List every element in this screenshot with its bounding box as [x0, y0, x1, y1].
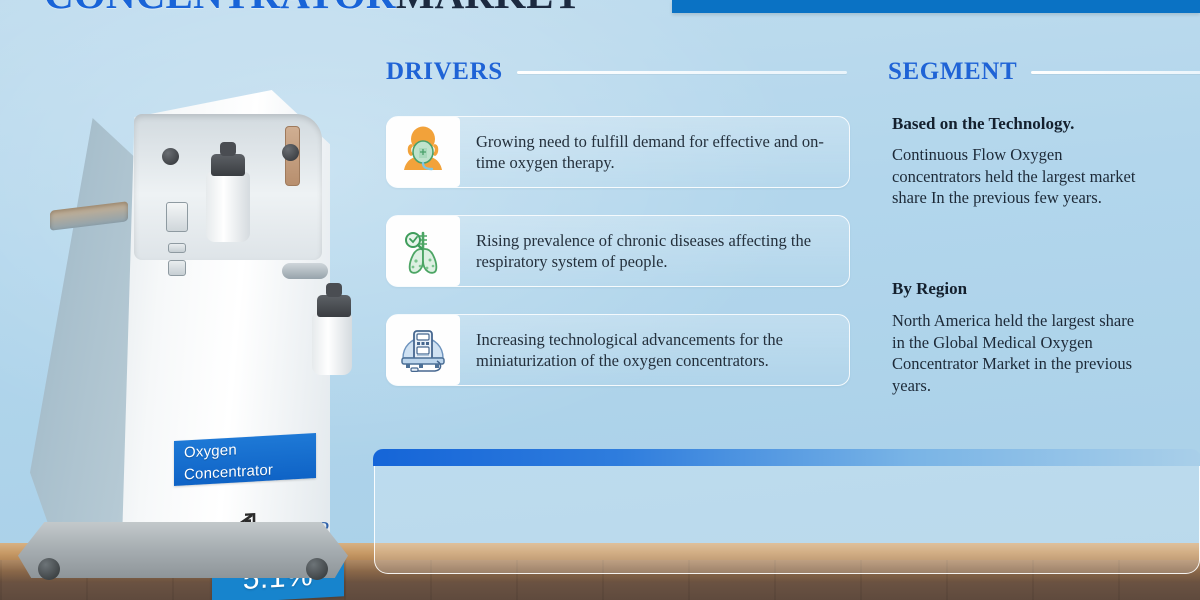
driver-card-text: Rising prevalence of chronic diseases af…	[460, 230, 849, 272]
machine-side-panel	[30, 118, 138, 540]
driver-card[interactable]: Rising prevalence of chronic diseases af…	[386, 215, 850, 287]
drivers-heading: DRIVERS	[386, 58, 847, 86]
oxygen-concentrator-illustration: Oxygen Concentrator CAGR 5.1%	[14, 88, 374, 584]
segment-heading: SEGMENT	[888, 58, 1200, 86]
machine-knob-right	[282, 144, 299, 161]
bottom-content-panel[interactable]	[374, 452, 1200, 574]
driver-card[interactable]: Increasing technological advancements fo…	[386, 314, 850, 386]
page-title-rest: MARKET	[396, 0, 582, 17]
region-title-text: By Region	[892, 279, 967, 298]
segment-technology-body: Continuous Flow Oxygen concentrators hel…	[892, 144, 1150, 209]
segment-region-title: By Region	[892, 277, 967, 302]
driver-icon-wrapper	[386, 216, 460, 286]
machine-knob-left	[162, 148, 179, 165]
segment-region-body: North America held the largest share in …	[892, 310, 1150, 396]
title-accent-bar	[672, 0, 1200, 13]
driver-card-text: Increasing technological advancements fo…	[460, 329, 849, 371]
technology-title-text: Based on the Technology.	[892, 114, 1074, 133]
machine-name-label: Oxygen Concentrator	[174, 433, 316, 486]
portable-oxygen-concentrator-icon	[397, 324, 449, 376]
page-title: CONCENTRATORMARKET	[44, 0, 581, 18]
lungs-magnifier-icon	[397, 225, 449, 277]
page-title-highlight: CONCENTRATOR	[44, 0, 396, 17]
machine-caster-left	[38, 558, 60, 580]
segment-heading-rule	[1031, 71, 1200, 74]
drivers-heading-rule	[517, 71, 847, 74]
driver-icon-wrapper	[386, 315, 460, 385]
segment-heading-label: SEGMENT	[888, 58, 1017, 86]
bottom-panel-accent-bar	[373, 449, 1200, 466]
machine-display-slot	[166, 202, 188, 232]
machine-base	[18, 522, 348, 578]
humidifier-bottle-main	[206, 172, 250, 242]
machine-outlet-port	[282, 263, 328, 279]
infographic-stage: CONCENTRATORMARKET DRIVERS Growing need …	[0, 0, 1200, 600]
segment-technology-title: Based on the Technology.	[892, 112, 1074, 137]
machine-button-lower	[168, 260, 186, 276]
humidifier-bottle-side	[312, 313, 352, 375]
machine-caster-right	[306, 558, 328, 580]
driver-card[interactable]: Growing need to fulfill demand for effec…	[386, 116, 850, 188]
drivers-heading-label: DRIVERS	[386, 58, 503, 86]
driver-card-text: Growing need to fulfill demand for effec…	[460, 131, 849, 173]
patient-oxygen-mask-icon	[397, 126, 449, 178]
machine-button-upper	[168, 243, 186, 253]
driver-icon-wrapper	[386, 117, 460, 187]
